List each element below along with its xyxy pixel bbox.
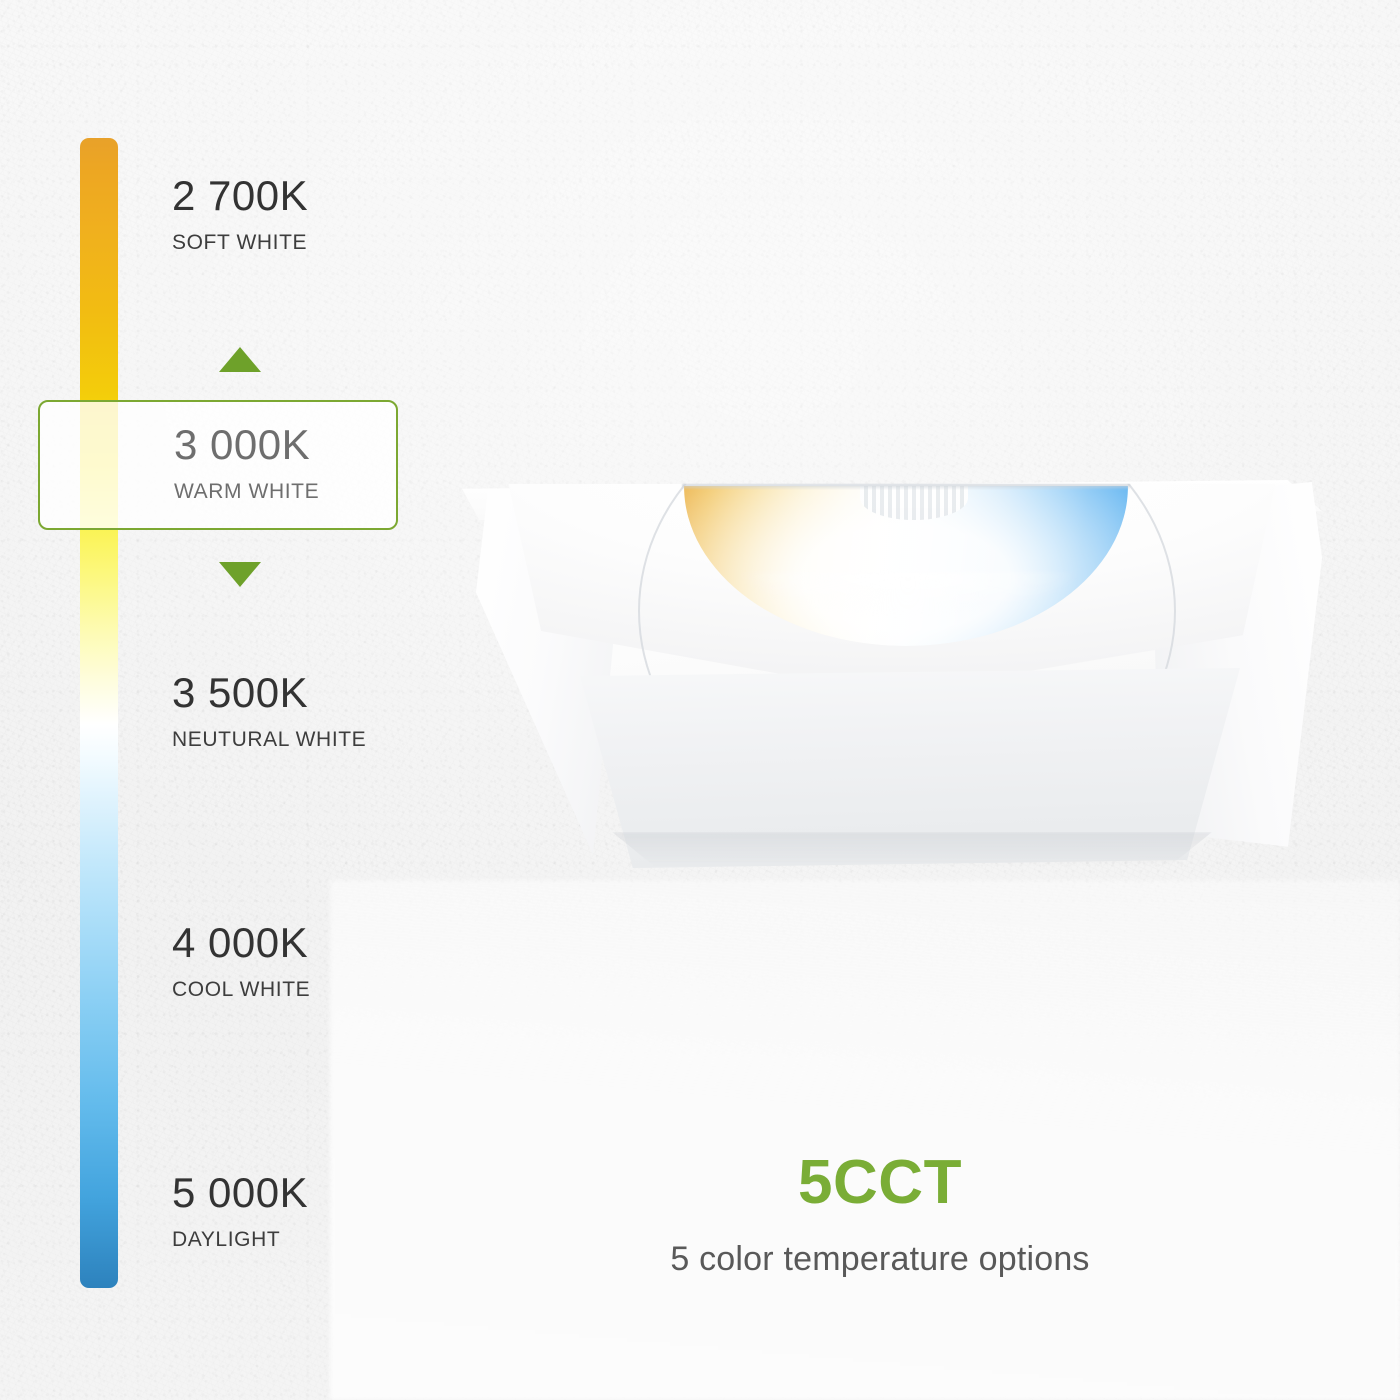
cct-kelvin-value: 4 000K [172,922,310,964]
color-temperature-gradient-bar [80,138,118,1288]
cct-color-name: SOFT WHITE [172,231,308,255]
cct-selected-option-3000k[interactable]: 3 000K WARM WHITE [38,400,398,530]
cct-headline: 5CCT [560,1152,1200,1214]
cct-color-name: WARM WHITE [174,480,319,504]
cct-label-4000k[interactable]: 4 000K COOL WHITE [172,922,310,1002]
cct-label-2700k[interactable]: 2 700K SOFT WHITE [172,175,308,255]
infographic-canvas: 2 700K SOFT WHITE 3 500K NEUTURAL WHITE … [0,0,1400,1400]
cct-label-5000k[interactable]: 5 000K DAYLIGHT [172,1172,308,1252]
cct-selected-text-group: 3 000K WARM WHITE [174,424,319,504]
cct-color-name: COOL WHITE [172,978,310,1002]
cct-kelvin-value: 3 500K [172,672,366,714]
triangle-down-icon[interactable] [219,562,261,587]
fixture-bottom-shadow-edge [612,832,1212,866]
cct-subtitle: 5 color temperature options [560,1240,1200,1279]
cct-label-3500k[interactable]: 3 500K NEUTURAL WHITE [172,672,366,752]
caption-block: 5CCT 5 color temperature options [560,1152,1200,1279]
cct-kelvin-value: 5 000K [172,1172,308,1214]
reflector-opening-lip [682,484,1130,490]
cct-kelvin-value: 3 000K [174,424,319,466]
cct-color-name: NEUTURAL WHITE [172,728,366,752]
cct-kelvin-value: 2 700K [172,175,308,217]
triangle-up-icon[interactable] [219,347,261,372]
background-clean-zone [330,880,1400,1400]
square-recessed-downlight-image [462,480,1322,870]
cct-color-name: DAYLIGHT [172,1228,308,1252]
